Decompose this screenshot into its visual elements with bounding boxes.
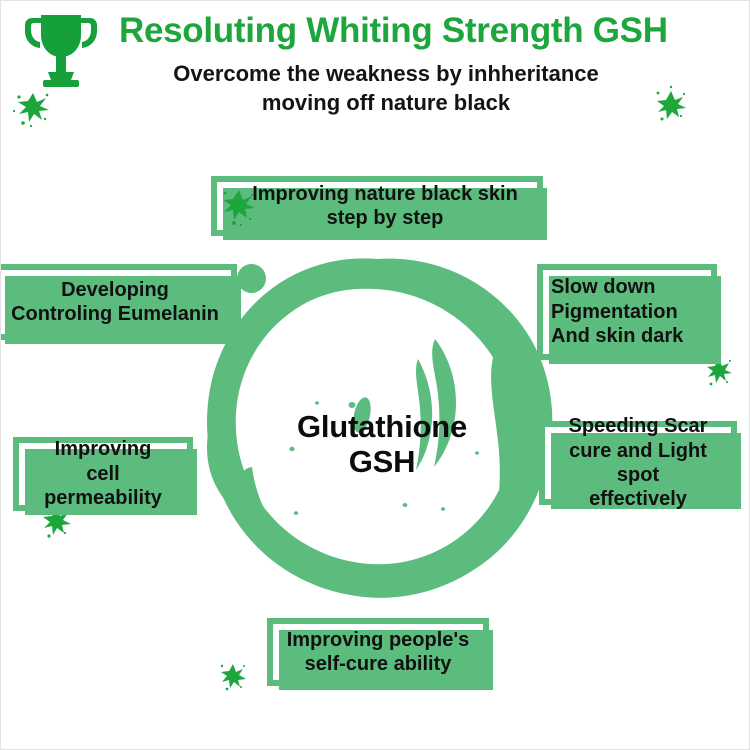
callout-text: Slow down Pigmentation And skin dark: [543, 273, 711, 350]
callout-improving-self-cure-ability[interactable]: Improving people's self-cure ability: [267, 618, 489, 686]
subtitle-line-1: Overcome the weakness by inhheritance: [106, 59, 666, 88]
callout-line-1: Slow down: [551, 275, 703, 299]
callout-text: Speeding Scar cure and Light spot effect…: [545, 412, 731, 514]
callout-text: Improving people's self-cure ability: [279, 626, 478, 679]
center-label: Glutathione GSH: [237, 409, 527, 480]
callout-developing-controling-eumelanin[interactable]: Developing Controling Eumelanin: [0, 264, 237, 340]
callout-line-3: effectively: [553, 487, 723, 511]
callout-line-2: self-cure ability: [287, 652, 470, 676]
subtitle-line-2: moving off nature black: [106, 88, 666, 117]
callout-line-2: cure and Light spot: [553, 439, 723, 488]
callout-line-1: Improving people's: [287, 628, 470, 652]
callout-text: Developing Controling Eumelanin: [3, 276, 227, 329]
gsh-infographic: Resoluting Whiting Strength GSH Overcome…: [0, 0, 750, 750]
callout-line-2: Pigmentation: [551, 300, 703, 324]
callout-line-1: Developing: [11, 278, 219, 302]
callout-slow-down-pigmentation[interactable]: Slow down Pigmentation And skin dark: [537, 264, 717, 360]
page-title: Resoluting Whiting Strength GSH: [119, 11, 719, 50]
paint-splatter-icon: [11, 85, 55, 129]
callout-text: Improving cell permeability: [19, 435, 187, 512]
callout-line-1: Improving: [27, 437, 179, 461]
callout-text: Improving nature black skin step by step: [228, 180, 526, 233]
callout-improving-cell-permeability[interactable]: Improving cell permeability: [13, 437, 193, 511]
callout-speeding-scar-cure[interactable]: Speeding Scar cure and Light spot effect…: [539, 421, 737, 505]
center-label-line-2: GSH: [237, 444, 527, 479]
callout-line-2: Controling Eumelanin: [11, 302, 219, 326]
green-dot: [237, 264, 266, 293]
center-label-line-1: Glutathione: [237, 409, 527, 444]
callout-line-1: Speeding Scar: [553, 414, 723, 438]
trophy-icon: [15, 5, 107, 97]
callout-line-1: Improving nature black skin: [252, 182, 518, 206]
callout-line-2: cell permeability: [27, 462, 179, 511]
paint-splatter-icon: [219, 183, 259, 227]
callout-line-2: step by step: [252, 206, 518, 230]
page-subtitle: Overcome the weakness by inhheritance mo…: [106, 59, 666, 117]
paint-splatter-icon: [217, 659, 249, 693]
paint-splatter-icon: [651, 85, 691, 125]
callout-improving-nature-black-skin[interactable]: Improving nature black skin step by step: [211, 176, 543, 236]
callout-line-3: And skin dark: [551, 324, 703, 348]
